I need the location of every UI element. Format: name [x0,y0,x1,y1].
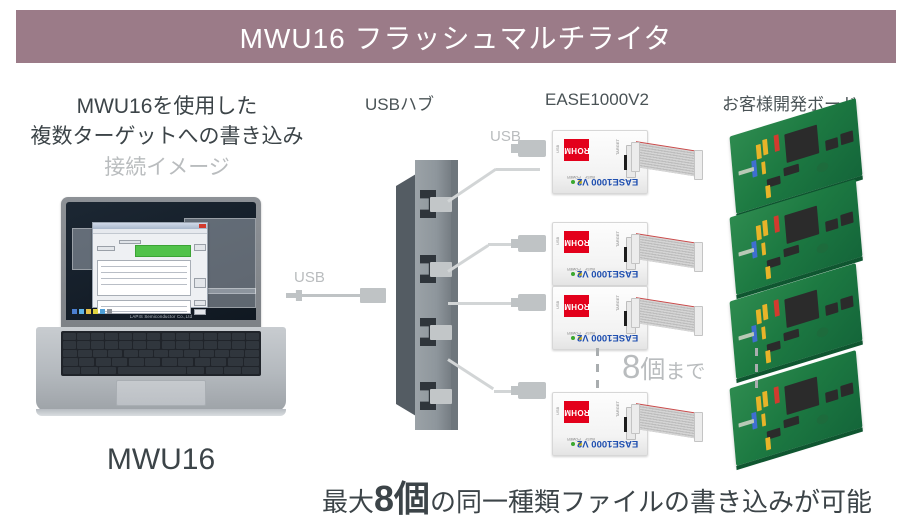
laptop-screen: LAPIS Semiconductor Co.,Ltd [66,202,256,320]
max-count-unit: 個 [640,356,665,384]
pcb-component-yellow-4a [756,396,762,412]
pcb-main-chip-2 [784,206,819,244]
rohm-logo-text-3: ROHM [564,302,590,311]
ribbon-end-far-1 [694,150,703,180]
pcb-main-chip-4 [784,377,819,415]
pcb-component-red-3 [774,299,780,317]
ribbon-end-near-2 [631,234,640,264]
rohm-logo-3: ROHM [564,295,589,317]
pcb-chip-small-b-2 [840,211,853,226]
bottom-caption-prefix: 最大 [322,482,374,519]
ease1000v2-device-2: ROHM USB POWER BUSY EASE1000 V2 TARGET [552,222,718,286]
rohm-logo-text-2: ROHM [564,238,590,247]
max-count-annotation: 8個まで [622,348,705,386]
continuation-dash-left [596,348,599,394]
pcb-component-yellow-3-1 [761,161,766,174]
bottom-caption: 最大8個の同一種類ファイルの書き込みが可能 [322,482,902,519]
pcb-chip-small-b-1 [840,130,853,145]
laptop-caption: MWU16 [36,443,286,477]
app-button-3 [194,300,206,306]
pcb-chip-small-c-2 [783,245,799,258]
laptop-keyboard [61,331,261,376]
pcb-chip-small-a-3 [825,302,838,316]
usb-hub-side-panel [396,174,416,416]
laptop-lid: LAPIS Semiconductor Co.,Ltd [61,197,261,330]
pcb-chip-small-c-4 [783,416,799,429]
pcb-pad-round-3 [816,326,828,339]
pcb-component-yellow-3c [761,326,766,339]
pcb-component-yellow-4c [761,413,766,426]
app-button-2 [194,278,206,288]
pcb-component-yellow-3a [756,309,762,325]
rohm-logo-2: ROHM [564,231,589,253]
column-label-ease1000v2: EASE1000V2 [545,90,649,110]
pcb-main-chip-3 [784,290,819,328]
pcb-component-yellow-3b [762,304,768,321]
close-icon [199,224,206,229]
pcb-component-yellow-2b [762,220,768,237]
bottom-caption-suffix: の同一種類ファイルの書き込みが可能 [430,482,872,519]
usb-plug-device-1 [518,140,546,157]
pcb-component-yellow-4-1 [765,185,771,199]
usb-label-device-1: USB [490,128,521,145]
header-bar: MWU16 フラッシュマルチライタ [16,10,896,63]
ease1000v2-device-3: ROHM USB POWER BUSY EASE1000 V2 TARGET [552,286,718,350]
usb-plug-device-4 [518,382,546,399]
pcb-pad-round-2 [816,242,828,255]
pcb-chip-small-b-4 [840,382,853,397]
target-connector-label-1: TARGET [615,139,620,155]
ease1000v2-device-4: ROHM USB POWER BUSY EASE1000 V2 TARGET [552,392,718,456]
description-line-2: 複数ターゲットへの書き込み [22,122,312,152]
hub-link-wire-1 [448,148,558,208]
usb-plug-device-3 [518,294,546,311]
pcb-chip-small-a-2 [825,218,838,232]
pcb-component-yellow-2-1 [762,139,768,156]
target-connector-label-3: TARGET [615,295,620,311]
continuation-dash-right [755,348,758,394]
app-body [93,234,207,307]
target-connector-label-2: TARGET [615,231,620,247]
laptop-base [36,327,286,411]
led-power-4 [571,442,575,446]
rohm-logo-4: ROHM [564,401,589,423]
pcb-chip-small-b-3 [840,295,853,310]
led-power-2 [571,272,575,276]
rohm-logo-text-4: ROHM [564,408,590,417]
laptop-trackpad [116,380,206,406]
app-button-1 [194,244,206,251]
pcb-component-yellow-1 [756,144,762,160]
ribbon-end-far-3 [694,306,703,336]
writer-app-window [92,222,208,308]
pcb-component-yellow-2a [756,225,762,241]
ribbon-end-far-2 [694,242,703,272]
rohm-logo-text-1: ROHM [564,146,590,155]
pcb-chip-small-c-1 [783,164,799,177]
usb-plug-device-2 [518,235,546,252]
laptop-illustration: LAPIS Semiconductor Co.,Ltd [36,197,286,442]
app-device-list [97,260,191,296]
device-usb-port-label-1: USB [555,145,560,153]
pcb-component-yellow-3d [765,350,771,364]
ribbon-end-near-3 [631,298,640,328]
pcb-pad-round-1 [816,161,828,174]
description-line-3: 接続イメージ [22,152,312,184]
led-power-1 [571,180,575,184]
description-line-1: MWU16を使用した [22,92,312,122]
pcb-component-yellow-2d [765,266,771,280]
customer-board-4 [730,370,890,466]
bottom-caption-emphasis: 8個 [374,483,430,515]
usb-plug-right [360,288,386,303]
pcb-component-red-2 [774,215,780,233]
ribbon-end-near-4 [631,404,640,434]
laptop-bezel-text: LAPIS Semiconductor Co.,Ltd [66,314,256,319]
max-count-suffix: まで [665,361,705,383]
laptop-front-edge [36,409,286,416]
ribbon-end-far-4 [694,412,703,442]
ease1000v2-device-1: ROHM USB POWER BUSY EASE1000 V2 TARGET [552,130,718,194]
pcb-component-yellow-4d [765,437,771,451]
status-banner [135,245,191,257]
rohm-logo-1: ROHM [564,139,589,161]
target-connector-label-4: TARGET [615,401,620,417]
led-power-3 [571,336,575,340]
usb-wire [300,294,362,297]
usb-cable-host: USB [286,272,394,298]
app-field-2 [119,240,141,244]
app-field-1 [97,246,115,251]
pcb-chip-small-a-4 [825,389,838,403]
pcb-component-yellow-4b [762,391,768,408]
pcb-component-red-1 [774,134,780,152]
pcb-pad-round-4 [816,413,828,426]
max-count-number: 8 [622,348,640,385]
slide-canvas: MWU16 フラッシュマルチライタ MWU16を使用した 複数ターゲットへの書き… [0,0,914,529]
left-description: MWU16を使用した 複数ターゲットへの書き込み 接続イメージ [22,92,312,184]
device-usb-port-label-2: USB [555,237,560,245]
column-label-usb-hub: USBハブ [365,90,434,115]
pcb-component-yellow-2c [761,242,766,255]
device-usb-port-label-3: USB [555,301,560,309]
pcb-main-chip-1 [784,125,819,163]
ribbon-end-near-1 [631,142,640,172]
pcb-chip-small-a-1 [825,137,838,151]
pcb-chip-small-c-3 [783,329,799,342]
device-usb-port-label-4: USB [555,407,560,415]
usb-cable-host-label: USB [294,269,325,286]
page-title: MWU16 フラッシュマルチライタ [240,17,673,57]
pcb-component-red-4 [774,386,780,404]
